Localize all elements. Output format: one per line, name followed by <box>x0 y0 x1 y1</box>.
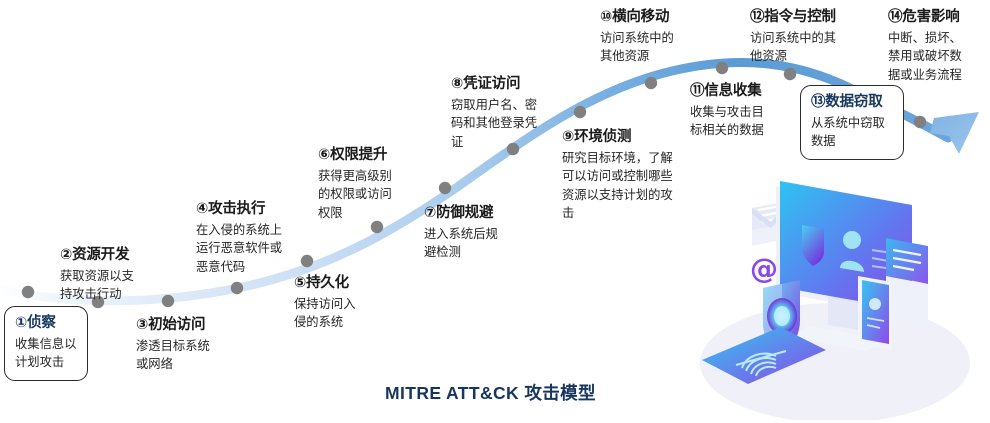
stage-6-privilege-escalation[interactable]: ⑥权限提升 获得更高级别 的权限或访问 权限 <box>318 146 428 222</box>
stage-dot-9 <box>574 106 586 118</box>
stage-dot-10 <box>645 77 657 89</box>
stage-dot-11 <box>716 62 728 74</box>
stage-4-title: ④攻击执行 <box>196 200 316 218</box>
stage-14-desc: 中断、损坏、 禁用或破坏数 据或业务流程 <box>888 29 988 84</box>
stage-12-command-and-control[interactable]: ⑫指令与控制 访问系统中的其 他资源 <box>750 8 878 66</box>
stage-13-exfiltration[interactable]: ⑬数据窃取 从系统中窃取 数据 <box>800 85 904 160</box>
stage-dot-6 <box>371 221 383 233</box>
page-title: MITRE ATT&CK 攻击模型 <box>385 380 596 405</box>
stage-9-desc: 研究目标环境，了解 可以访问或控制哪些 资源以支持计划的攻 击 <box>562 149 702 222</box>
stage-12-desc: 访问系统中的其 他资源 <box>750 29 878 65</box>
stage-dot-12 <box>784 68 796 80</box>
stage-dot-7 <box>439 182 451 194</box>
svg-text:@: @ <box>750 252 778 285</box>
stage-dot-14 <box>914 116 926 128</box>
stage-2-title: ②资源开发 <box>60 246 170 264</box>
stage-3-initial-access[interactable]: ③初始访问 渗透目标系统 或网络 <box>136 316 246 374</box>
stage-5-title: ⑤持久化 <box>294 274 398 292</box>
stage-2-desc: 获取资源以支 持攻击行动 <box>60 267 170 303</box>
stage-1-desc: 收集信息以 计划攻击 <box>15 335 78 371</box>
stage-2-resource-development[interactable]: ②资源开发 获取资源以支 持攻击行动 <box>60 246 170 304</box>
stage-11-title: ⑪信息收集 <box>690 82 800 100</box>
mobile-phone-icon <box>858 276 892 350</box>
stage-9-discovery[interactable]: ⑨环境侦测 研究目标环境，了解 可以访问或控制哪些 资源以支持计划的攻 击 <box>562 128 702 222</box>
stage-7-defense-evasion[interactable]: ⑦防御规避 进入系统后规 避检测 <box>424 204 534 262</box>
stage-11-collection[interactable]: ⑪信息收集 收集与攻击目 标相关的数据 <box>690 82 800 140</box>
stage-3-title: ③初始访问 <box>136 316 246 334</box>
stage-3-desc: 渗透目标系统 或网络 <box>136 337 246 373</box>
stage-dot-1 <box>22 286 34 298</box>
stage-14-impact[interactable]: ⑭危害影响 中断、损坏、 禁用或破坏数 据或业务流程 <box>888 8 988 84</box>
stage-8-title: ⑧凭证访问 <box>451 75 571 93</box>
stage-14-title: ⑭危害影响 <box>888 8 988 26</box>
stage-5-persistence[interactable]: ⑤持久化 保持访问入 侵的系统 <box>294 274 398 332</box>
stage-13-title: ⑬数据窃取 <box>811 93 894 111</box>
stage-12-title: ⑫指令与控制 <box>750 8 878 26</box>
stage-7-title: ⑦防御规避 <box>424 204 534 222</box>
stage-8-desc: 窃取用户名、密 码和其他登录凭 证 <box>451 96 571 151</box>
stage-6-title: ⑥权限提升 <box>318 146 428 164</box>
stage-4-desc: 在入侵的系统上 运行恶意软件或 恶意代码 <box>196 221 316 276</box>
chat-bubble-icon <box>886 238 928 328</box>
at-symbol-icon: @ <box>750 252 778 285</box>
stage-5-desc: 保持访问入 侵的系统 <box>294 295 398 331</box>
mitre-attack-diagram: @ <box>0 0 990 423</box>
stage-10-desc: 访问系统中的 其他资源 <box>600 29 710 65</box>
isometric-cybersecurity-illustration: @ <box>690 168 990 420</box>
stage-dot-4 <box>231 282 243 294</box>
stage-9-title: ⑨环境侦测 <box>562 128 702 146</box>
stage-6-desc: 获得更高级别 的权限或访问 权限 <box>318 167 428 222</box>
stage-7-desc: 进入系统后规 避检测 <box>424 225 534 261</box>
stage-4-execution[interactable]: ④攻击执行 在入侵的系统上 运行恶意软件或 恶意代码 <box>196 200 316 276</box>
stage-8-credential-access[interactable]: ⑧凭证访问 窃取用户名、密 码和其他登录凭 证 <box>451 75 571 151</box>
stage-10-lateral-movement[interactable]: ⑩横向移动 访问系统中的 其他资源 <box>600 8 710 66</box>
stage-1-title: ①侦察 <box>15 314 78 332</box>
stage-11-desc: 收集与攻击目 标相关的数据 <box>690 103 800 139</box>
stage-1-reconnaissance[interactable]: ①侦察 收集信息以 计划攻击 <box>4 306 88 381</box>
stage-10-title: ⑩横向移动 <box>600 8 710 26</box>
stage-13-desc: 从系统中窃取 数据 <box>811 114 894 150</box>
